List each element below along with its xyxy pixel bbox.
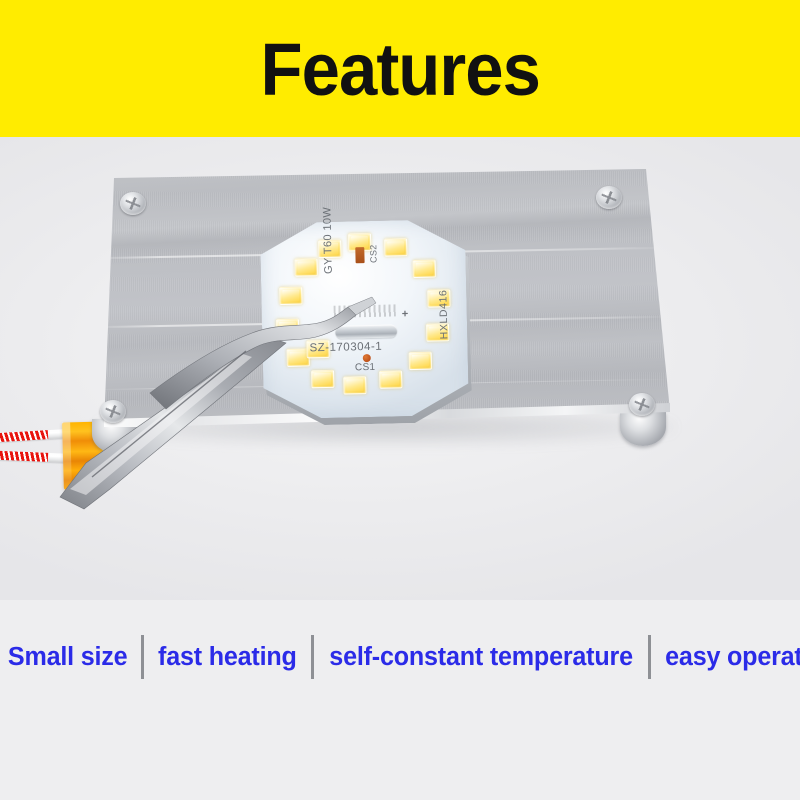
polarity-plus-label: + <box>402 308 409 320</box>
heating-plate-assembly: + GY T60 10W CS2 SZ-170304-1 CS1 HXLD416 <box>0 137 800 600</box>
led-chip <box>311 370 334 389</box>
plate-foot-right <box>620 412 666 446</box>
wire-stripe <box>0 451 48 462</box>
pcb-part-number: SZ-170304-1 <box>309 341 382 355</box>
screw-top-left <box>120 192 146 215</box>
led-chip <box>343 376 366 395</box>
pcb-vendor-code: HXLD416 <box>437 289 450 339</box>
screw-cross-icon <box>599 188 619 206</box>
screw-bottom-left <box>100 400 126 423</box>
page-title: Features <box>260 33 539 107</box>
wire-stripe <box>0 430 48 442</box>
feature-list: Small size fast heating self-constant te… <box>0 600 800 800</box>
pcb-cs1-label: CS1 <box>355 362 376 373</box>
led-chip <box>295 258 318 277</box>
led-chip <box>409 352 432 371</box>
product-photo: + GY T60 10W CS2 SZ-170304-1 CS1 HXLD416 <box>0 137 800 600</box>
screw-cross-icon <box>632 395 652 413</box>
feature-item-self-constant-temperature: self-constant temperature <box>329 642 633 672</box>
screw-bottom-right <box>629 393 655 416</box>
feature-separator <box>141 635 144 679</box>
led-chip <box>276 319 299 338</box>
led-chip <box>384 238 407 257</box>
led-pcb: + GY T60 10W CS2 SZ-170304-1 CS1 HXLD416 <box>260 219 480 429</box>
feature-separator <box>648 635 651 679</box>
pcb-cs2-label: CS2 <box>368 244 378 263</box>
features-banner: Features <box>0 0 800 137</box>
screw-cross-icon <box>103 402 123 420</box>
led-chip <box>413 259 436 278</box>
cs2-solder-pad <box>355 247 364 263</box>
feature-item-fast-heating: fast heating <box>158 642 297 672</box>
capacitor-pad <box>335 324 397 338</box>
led-chip <box>279 287 302 306</box>
led-chip <box>379 370 402 389</box>
pcb-model-label: GY T60 10W <box>321 207 335 274</box>
feature-separator <box>311 635 314 679</box>
screw-cross-icon <box>123 194 143 212</box>
product-feature-page: Features <box>0 0 800 800</box>
feature-item-small-size: Small size <box>8 642 128 672</box>
screw-top-right <box>596 186 622 209</box>
feature-row: Small size fast heating self-constant te… <box>0 635 800 679</box>
feature-item-easy-operate: easy operate <box>665 642 800 672</box>
driver-marking <box>334 304 396 317</box>
